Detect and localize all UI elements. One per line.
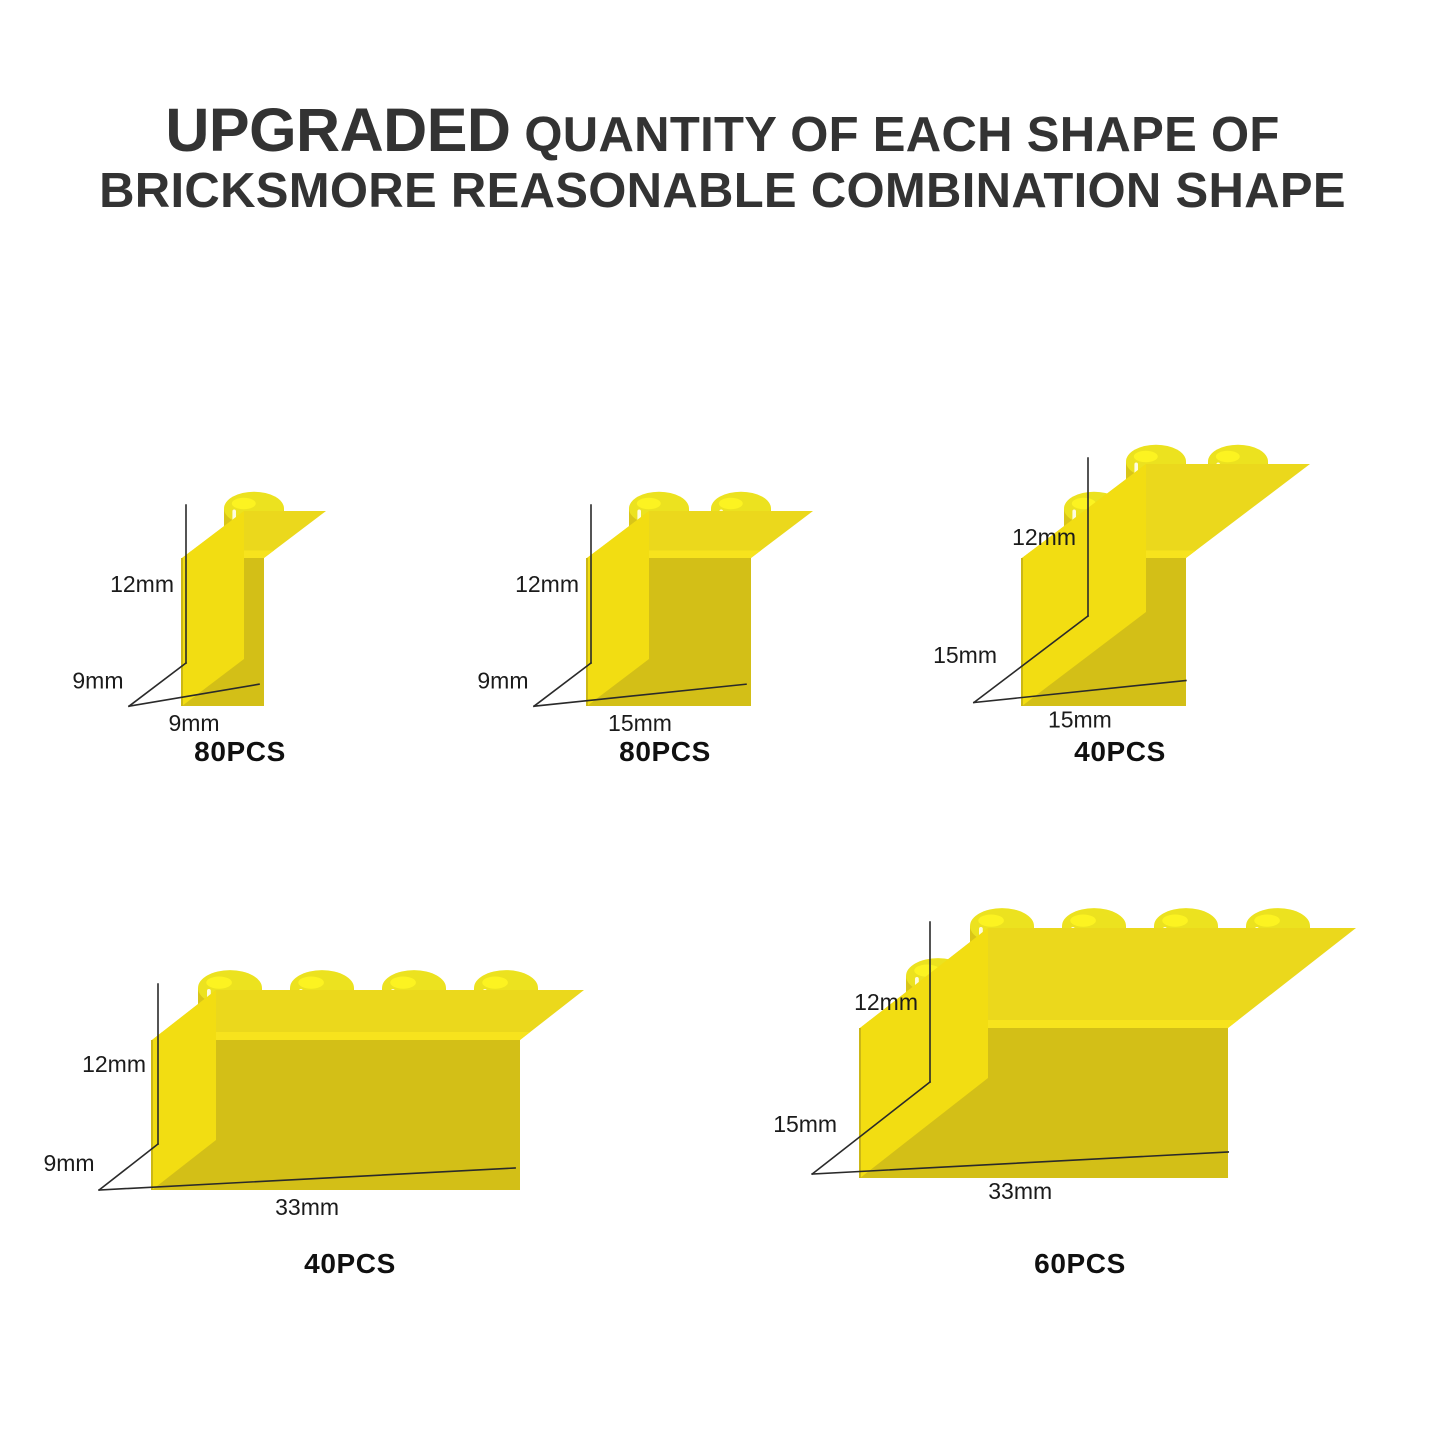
brick-illustration-1x1: 12mm9mm9mm: [60, 440, 466, 826]
title-line-1-rest: QUANTITY OF EACH SHAPE OF: [524, 108, 1279, 162]
depth-dimension-label: 9mm: [477, 668, 528, 694]
brick-card-2x2: 12mm15mm15mm 40PCS: [910, 408, 1330, 808]
depth-dimension-label: 9mm: [72, 668, 123, 694]
brick-illustration-2x4: 12mm15mm33mm: [730, 880, 1445, 1298]
depth-dimension-label: 15mm: [773, 1111, 837, 1137]
width-dimension-label: 9mm: [168, 710, 219, 736]
title-line-2: BRICKSMORE REASONABLE COMBINATION SHAPE: [0, 164, 1445, 219]
depth-dimension-line: [99, 1144, 158, 1190]
page-title: UPGRADED QUANTITY OF EACH SHAPE OF BRICK…: [0, 96, 1445, 219]
depth-dimension-label: 9mm: [43, 1150, 94, 1176]
width-dimension-label: 33mm: [988, 1178, 1052, 1204]
depth-dimension-label: 15mm: [933, 642, 997, 668]
width-dimension-label: 33mm: [275, 1194, 339, 1220]
quantity-label-1x1: 80PCS: [60, 736, 420, 768]
width-dimension-label: 15mm: [1048, 707, 1112, 733]
depth-dimension-line: [534, 663, 591, 706]
quantity-label-1x2: 80PCS: [465, 736, 865, 768]
brick-card-1x2: 12mm9mm15mm 80PCS: [465, 440, 865, 800]
height-dimension-label: 12mm: [82, 1051, 146, 1077]
title-line-2-text: BRICKSMORE REASONABLE COMBINATION SHAPE: [99, 164, 1346, 218]
brick-card-1x4: 12mm9mm33mm 40PCS: [20, 900, 680, 1300]
height-dimension-label: 12mm: [110, 571, 174, 597]
quantity-label-1x4: 40PCS: [20, 1248, 680, 1280]
height-dimension-label: 12mm: [854, 989, 918, 1015]
height-dimension-label: 12mm: [515, 571, 579, 597]
title-emphasis: UPGRADED: [165, 96, 510, 164]
brick-card-2x4: 12mm15mm33mm 60PCS: [730, 880, 1430, 1300]
brick-card-1x1: 12mm9mm9mm 80PCS: [60, 440, 420, 800]
width-dimension-label: 15mm: [608, 710, 672, 736]
brick-illustration-1x2: 12mm9mm15mm: [465, 440, 953, 826]
title-line-1: UPGRADED QUANTITY OF EACH SHAPE OF: [0, 96, 1445, 164]
depth-dimension-line: [129, 663, 186, 706]
quantity-label-2x2: 40PCS: [910, 736, 1330, 768]
quantity-label-2x4: 60PCS: [730, 1248, 1430, 1280]
height-dimension-label: 12mm: [1012, 524, 1076, 550]
